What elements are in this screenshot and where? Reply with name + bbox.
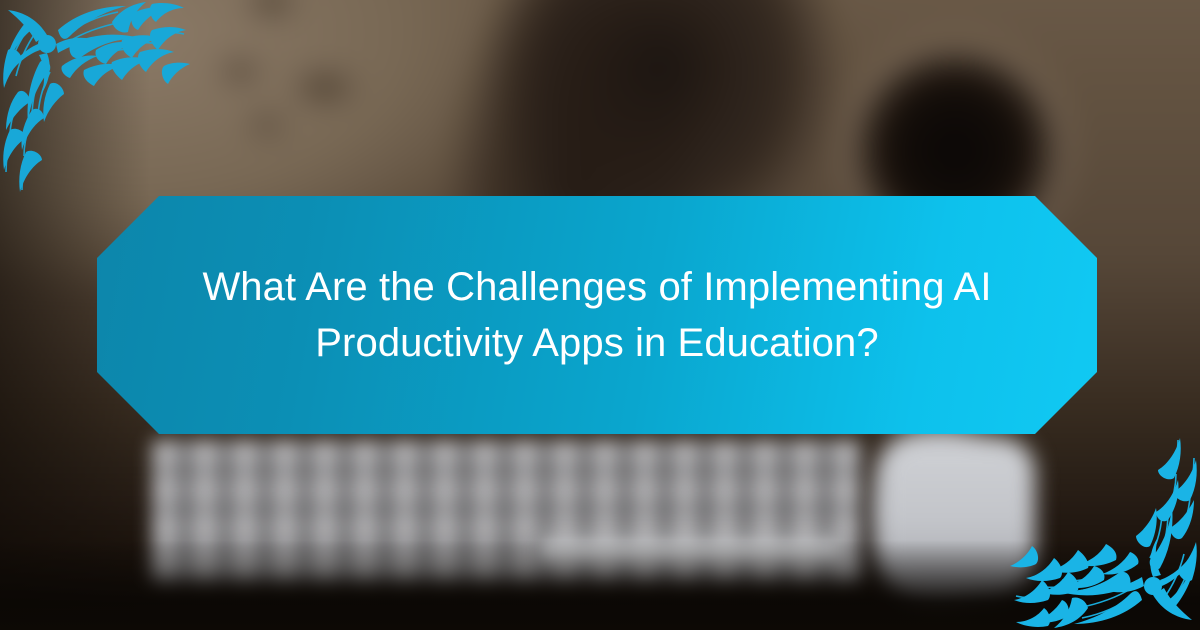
title-banner: What Are the Challenges of Implementing …	[97, 196, 1097, 434]
page-title: What Are the Challenges of Implementing …	[187, 259, 1007, 371]
bottom-vignette	[0, 540, 1200, 630]
share-card: What Are the Challenges of Implementing …	[0, 0, 1200, 630]
